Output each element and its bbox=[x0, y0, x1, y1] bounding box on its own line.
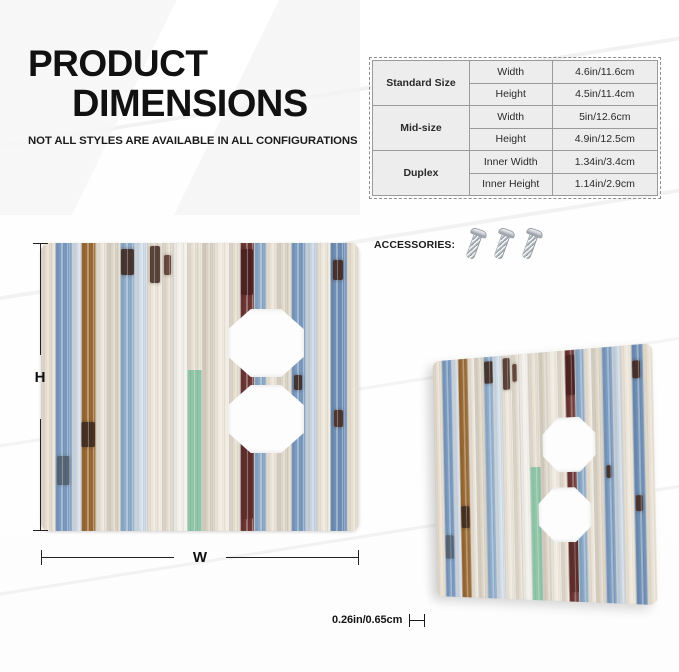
thickness-annotation: 0.26in/0.65cm bbox=[332, 612, 425, 628]
subtitle: NOT ALL STYLES ARE AVAILABLE IN ALL CONF… bbox=[28, 135, 368, 147]
weathered-patch bbox=[632, 360, 640, 379]
plank bbox=[162, 243, 173, 531]
table-row: Mid-size Width 5in/12.6cm bbox=[373, 106, 658, 129]
table-row: Duplex Inner Width 1.34in/3.4cm bbox=[373, 151, 658, 174]
outer-height-label: H bbox=[31, 369, 49, 386]
spec-table-grid: Standard Size Width 4.6in/11.6cm Height … bbox=[372, 60, 658, 196]
title-line-1: PRODUCT bbox=[28, 44, 368, 84]
outlet-cutout-bottom bbox=[228, 385, 304, 453]
spec-dimension: Width bbox=[469, 106, 552, 129]
spec-category: Mid-size bbox=[373, 106, 470, 151]
screw-icon bbox=[458, 225, 494, 266]
plank bbox=[135, 243, 147, 531]
spec-value: 5in/12.6cm bbox=[552, 106, 657, 129]
mint-plank-accent bbox=[187, 370, 202, 531]
weathered-patch bbox=[461, 507, 470, 529]
wall-plate-front-view: H W bbox=[41, 243, 359, 531]
spec-dimension: Inner Width bbox=[469, 151, 552, 174]
spec-table: Standard Size Width 4.6in/11.6cm Height … bbox=[369, 57, 661, 199]
plank bbox=[214, 243, 229, 531]
spec-dimension: Width bbox=[469, 61, 552, 84]
plank bbox=[330, 243, 346, 531]
wall-plate-angled-view-wrapper bbox=[407, 343, 655, 605]
weathered-patch bbox=[606, 465, 612, 478]
plank bbox=[187, 243, 202, 531]
outer-height-dimension: H bbox=[31, 243, 49, 531]
caliper-icon bbox=[409, 612, 425, 628]
plank bbox=[347, 243, 359, 531]
spec-value: 4.9in/12.5cm bbox=[552, 128, 657, 151]
spec-value: 1.14in/2.9cm bbox=[552, 173, 657, 196]
plank bbox=[291, 243, 306, 531]
plank bbox=[147, 243, 162, 531]
spec-value: 4.5in/11.4cm bbox=[552, 83, 657, 106]
plank-texture-left bbox=[41, 243, 359, 531]
plank bbox=[202, 243, 214, 531]
weathered-patch bbox=[512, 364, 517, 381]
weathered-patch bbox=[241, 249, 254, 295]
plank bbox=[81, 243, 96, 531]
weathered-patch bbox=[636, 495, 643, 511]
spec-value: 1.34in/3.4cm bbox=[552, 151, 657, 174]
weathered-patch bbox=[294, 375, 302, 389]
plank bbox=[173, 243, 187, 531]
spec-category: Duplex bbox=[373, 151, 470, 196]
screw-icon bbox=[486, 225, 522, 266]
spec-dimension: Inner Height bbox=[469, 173, 552, 196]
plank bbox=[229, 243, 240, 531]
spec-dimension: Height bbox=[469, 83, 552, 106]
weathered-patch bbox=[164, 255, 171, 275]
wall-plate-angled-view bbox=[433, 343, 658, 605]
weathered-patch bbox=[81, 422, 94, 448]
plank bbox=[306, 243, 317, 531]
plank bbox=[120, 243, 135, 531]
spec-value: 4.6in/11.6cm bbox=[552, 61, 657, 84]
weathered-patch bbox=[565, 355, 575, 396]
page-title: PRODUCT DIMENSIONS NOT ALL STYLES ARE AV… bbox=[28, 44, 368, 147]
table-row: Standard Size Width 4.6in/11.6cm bbox=[373, 61, 658, 84]
weathered-patch bbox=[57, 456, 70, 485]
spec-dimension: Height bbox=[469, 128, 552, 151]
outer-width-label: W bbox=[174, 549, 226, 566]
weathered-patch bbox=[150, 246, 161, 283]
plank-texture-right bbox=[433, 343, 658, 605]
weathered-patch bbox=[334, 410, 343, 427]
weathered-patch bbox=[502, 358, 510, 390]
title-line-2: DIMENSIONS bbox=[28, 84, 368, 124]
accessories-section: ACCESSORIES: bbox=[374, 228, 545, 262]
plank bbox=[72, 243, 80, 531]
plank bbox=[96, 243, 107, 531]
plank bbox=[55, 243, 73, 531]
accessories-label: ACCESSORIES: bbox=[374, 239, 455, 251]
outlet-cutout-top bbox=[228, 309, 304, 377]
weathered-patch bbox=[484, 361, 493, 383]
plank bbox=[317, 243, 331, 531]
weathered-patch bbox=[241, 445, 254, 520]
weathered-patch bbox=[446, 535, 454, 559]
weathered-patch bbox=[333, 260, 343, 280]
weathered-patch bbox=[121, 249, 134, 275]
screw-icon bbox=[514, 225, 550, 266]
spec-category: Standard Size bbox=[373, 61, 470, 106]
plank bbox=[107, 243, 121, 531]
screw-group bbox=[461, 228, 545, 262]
outer-width-dimension: W bbox=[41, 548, 359, 566]
thickness-label: 0.26in/0.65cm bbox=[332, 614, 402, 626]
